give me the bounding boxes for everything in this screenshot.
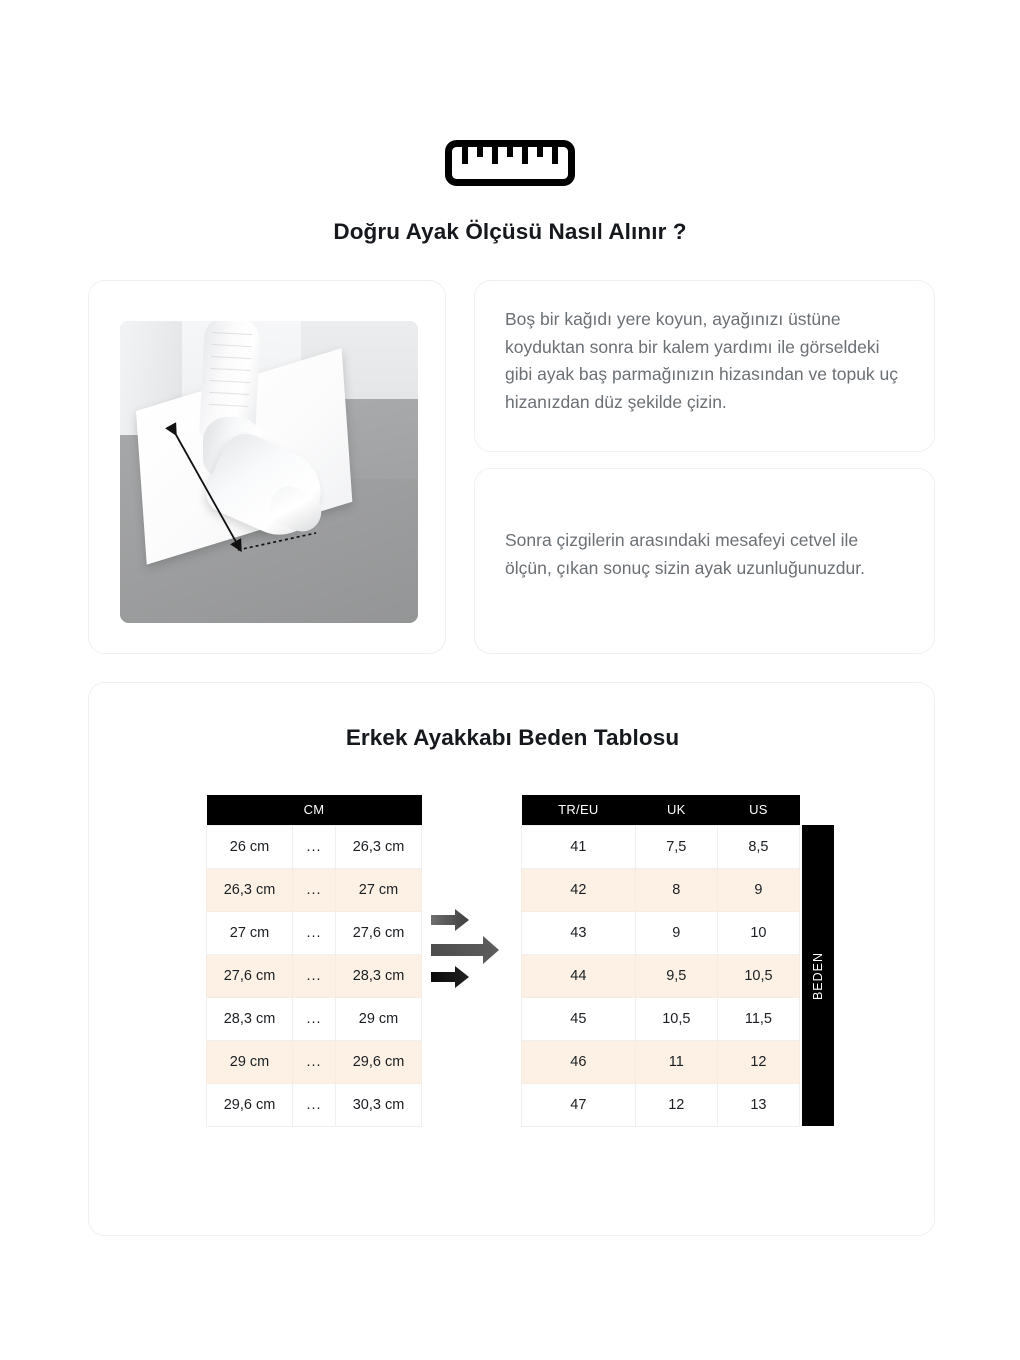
- cm-high: 26,3 cm: [336, 825, 422, 868]
- size-table-header-uk: UK: [635, 795, 717, 825]
- foot-measure-photo: [120, 321, 418, 623]
- size-table-header-treu: TR/EU: [522, 795, 636, 825]
- cm-separator: ...: [293, 1083, 336, 1126]
- table-row: 29,6 cm ... 30,3 cm: [207, 1083, 422, 1126]
- size-treu: 43: [522, 911, 636, 954]
- table-row: 28,3 cm ... 29 cm: [207, 997, 422, 1040]
- cm-high: 27,6 cm: [336, 911, 422, 954]
- instruction-text-2: Sonra çizgilerin arasındaki mesafeyi cet…: [505, 527, 890, 582]
- size-table-header-us: US: [717, 795, 799, 825]
- cm-high: 29,6 cm: [336, 1040, 422, 1083]
- size-table-header-row: TR/EU UK US: [522, 795, 800, 825]
- size-treu: 46: [522, 1040, 636, 1083]
- cm-low: 26,3 cm: [207, 868, 293, 911]
- size-us: 13: [717, 1083, 799, 1126]
- cm-table-header-row: CM: [207, 795, 422, 825]
- table-row: 45 10,5 11,5: [522, 997, 800, 1040]
- size-tables-area: CM 26 cm ... 26,3 cm 26,3 cm ... 27 cm: [89, 795, 936, 1140]
- size-us: 12: [717, 1040, 799, 1083]
- size-us: 9: [717, 868, 799, 911]
- size-uk: 7,5: [635, 825, 717, 868]
- cm-low: 27,6 cm: [207, 954, 293, 997]
- size-uk: 9,5: [635, 954, 717, 997]
- ruler-icon: [445, 140, 575, 186]
- cm-separator: ...: [293, 911, 336, 954]
- beden-side-label-text: BEDEN: [811, 951, 825, 999]
- conversion-arrows-icon: [429, 903, 521, 993]
- cm-high: 28,3 cm: [336, 954, 422, 997]
- page-title: Doğru Ayak Ölçüsü Nasıl Alınır ?: [0, 219, 1020, 245]
- instruction-card-1: Boş bir kağıdı yere koyun, ayağınızı üst…: [474, 280, 935, 452]
- beden-side-label: BEDEN: [802, 825, 834, 1126]
- cm-separator: ...: [293, 825, 336, 868]
- size-treu: 45: [522, 997, 636, 1040]
- size-guide-page: Doğru Ayak Ölçüsü Nasıl Alınır ?: [0, 0, 1020, 1360]
- table-row: 46 11 12: [522, 1040, 800, 1083]
- size-chart-card: Erkek Ayakkabı Beden Tablosu CM 26 cm ..…: [88, 682, 935, 1236]
- size-chart-title: Erkek Ayakkabı Beden Tablosu: [89, 725, 936, 751]
- size-uk: 8: [635, 868, 717, 911]
- size-us: 8,5: [717, 825, 799, 868]
- ruler-icon-container: [0, 140, 1020, 186]
- cm-low: 29,6 cm: [207, 1083, 293, 1126]
- table-row: 26 cm ... 26,3 cm: [207, 825, 422, 868]
- cm-separator: ...: [293, 997, 336, 1040]
- cm-high: 30,3 cm: [336, 1083, 422, 1126]
- size-uk: 11: [635, 1040, 717, 1083]
- size-us: 10,5: [717, 954, 799, 997]
- table-row: 47 12 13: [522, 1083, 800, 1126]
- table-row: 42 8 9: [522, 868, 800, 911]
- cm-separator: ...: [293, 1040, 336, 1083]
- table-row: 44 9,5 10,5: [522, 954, 800, 997]
- table-row: 27,6 cm ... 28,3 cm: [207, 954, 422, 997]
- cm-low: 27 cm: [207, 911, 293, 954]
- size-table: TR/EU UK US 41 7,5 8,5 42 8 9: [521, 795, 800, 1127]
- table-row: 41 7,5 8,5: [522, 825, 800, 868]
- cm-low: 29 cm: [207, 1040, 293, 1083]
- cm-separator: ...: [293, 954, 336, 997]
- cm-high: 29 cm: [336, 997, 422, 1040]
- cm-table: CM 26 cm ... 26,3 cm 26,3 cm ... 27 cm: [206, 795, 422, 1127]
- cm-separator: ...: [293, 868, 336, 911]
- size-uk: 9: [635, 911, 717, 954]
- size-treu: 42: [522, 868, 636, 911]
- size-uk: 10,5: [635, 997, 717, 1040]
- measurement-arrow: [120, 321, 418, 623]
- table-row: 26,3 cm ... 27 cm: [207, 868, 422, 911]
- table-row: 27 cm ... 27,6 cm: [207, 911, 422, 954]
- size-us: 10: [717, 911, 799, 954]
- table-row: 29 cm ... 29,6 cm: [207, 1040, 422, 1083]
- table-row: 43 9 10: [522, 911, 800, 954]
- instruction-text-1: Boş bir kağıdı yere koyun, ayağınızı üst…: [505, 306, 905, 416]
- size-us: 11,5: [717, 997, 799, 1040]
- size-uk: 12: [635, 1083, 717, 1126]
- cm-high: 27 cm: [336, 868, 422, 911]
- size-treu: 41: [522, 825, 636, 868]
- cm-table-header-cell: CM: [207, 795, 422, 825]
- instruction-card-2: Sonra çizgilerin arasındaki mesafeyi cet…: [474, 468, 935, 654]
- size-treu: 47: [522, 1083, 636, 1126]
- cm-low: 28,3 cm: [207, 997, 293, 1040]
- foot-measure-photo-card: [88, 280, 446, 654]
- size-treu: 44: [522, 954, 636, 997]
- cm-low: 26 cm: [207, 825, 293, 868]
